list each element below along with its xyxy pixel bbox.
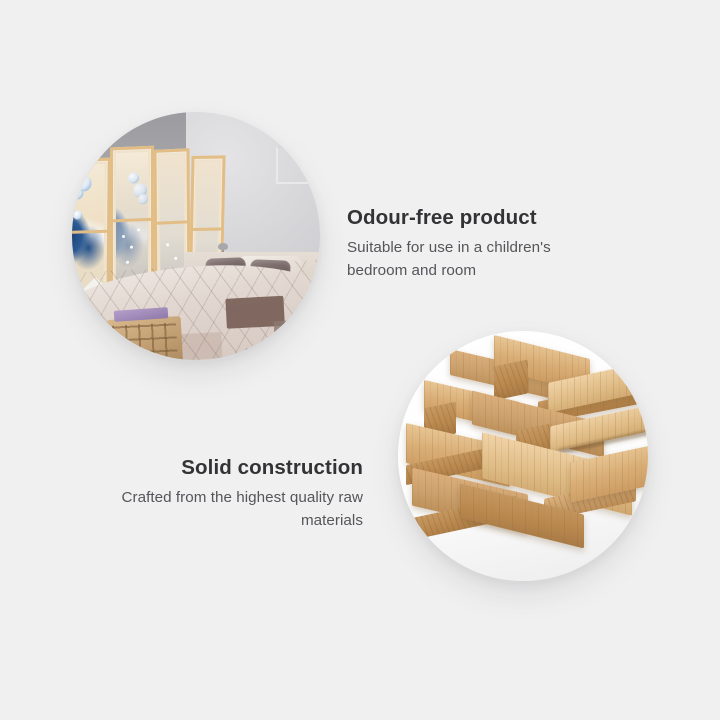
timber-feature-image — [398, 331, 648, 581]
reading-lamp-head — [218, 243, 228, 250]
beam-end-grain — [494, 359, 528, 400]
petal — [122, 235, 125, 238]
wall-corner-trim — [276, 146, 308, 184]
feature-text-odour-free: Odour-free product Suitable for use in a… — [347, 205, 605, 282]
petal — [137, 228, 140, 231]
timber-scene — [398, 331, 648, 581]
bedroom-feature-image — [72, 112, 320, 360]
petal — [166, 243, 169, 246]
feature-body-odour-free: Suitable for use in a children's bedroom… — [347, 237, 605, 282]
panel-mullion — [193, 227, 221, 230]
timber-block-end — [494, 359, 528, 400]
feature-heading-odour-free: Odour-free product — [347, 205, 605, 231]
feature-text-solid-construction: Solid construction Crafted from the high… — [100, 455, 363, 532]
infographic-canvas: Odour-free product Suitable for use in a… — [0, 0, 720, 720]
nightstand-lattice — [112, 322, 178, 360]
feature-body-solid-construction: Crafted from the highest quality raw mat… — [100, 487, 363, 532]
petal — [126, 261, 129, 264]
feature-heading-solid-construction: Solid construction — [100, 455, 363, 481]
wooden-nightstand — [107, 316, 184, 360]
bedroom-scene — [72, 112, 320, 360]
